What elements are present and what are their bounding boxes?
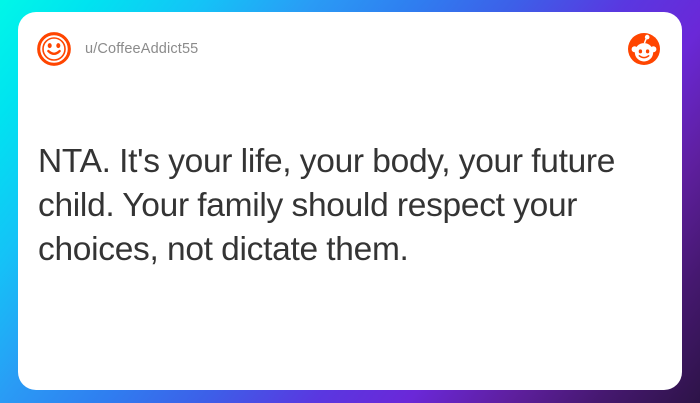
gradient-background: u/CoffeeAddict55 NTA. It's your life, yo… xyxy=(0,0,700,403)
card-body: NTA. It's your life, your body, your fut… xyxy=(18,140,682,272)
card-header: u/CoffeeAddict55 xyxy=(18,12,682,86)
username-label: u/CoffeeAddict55 xyxy=(85,41,198,57)
comment-text: NTA. It's your life, your body, your fut… xyxy=(38,140,660,272)
reddit-snoo-icon xyxy=(628,33,660,65)
smiley-face-icon xyxy=(36,31,72,67)
reddit-comment-card: u/CoffeeAddict55 NTA. It's your life, yo… xyxy=(18,12,682,390)
